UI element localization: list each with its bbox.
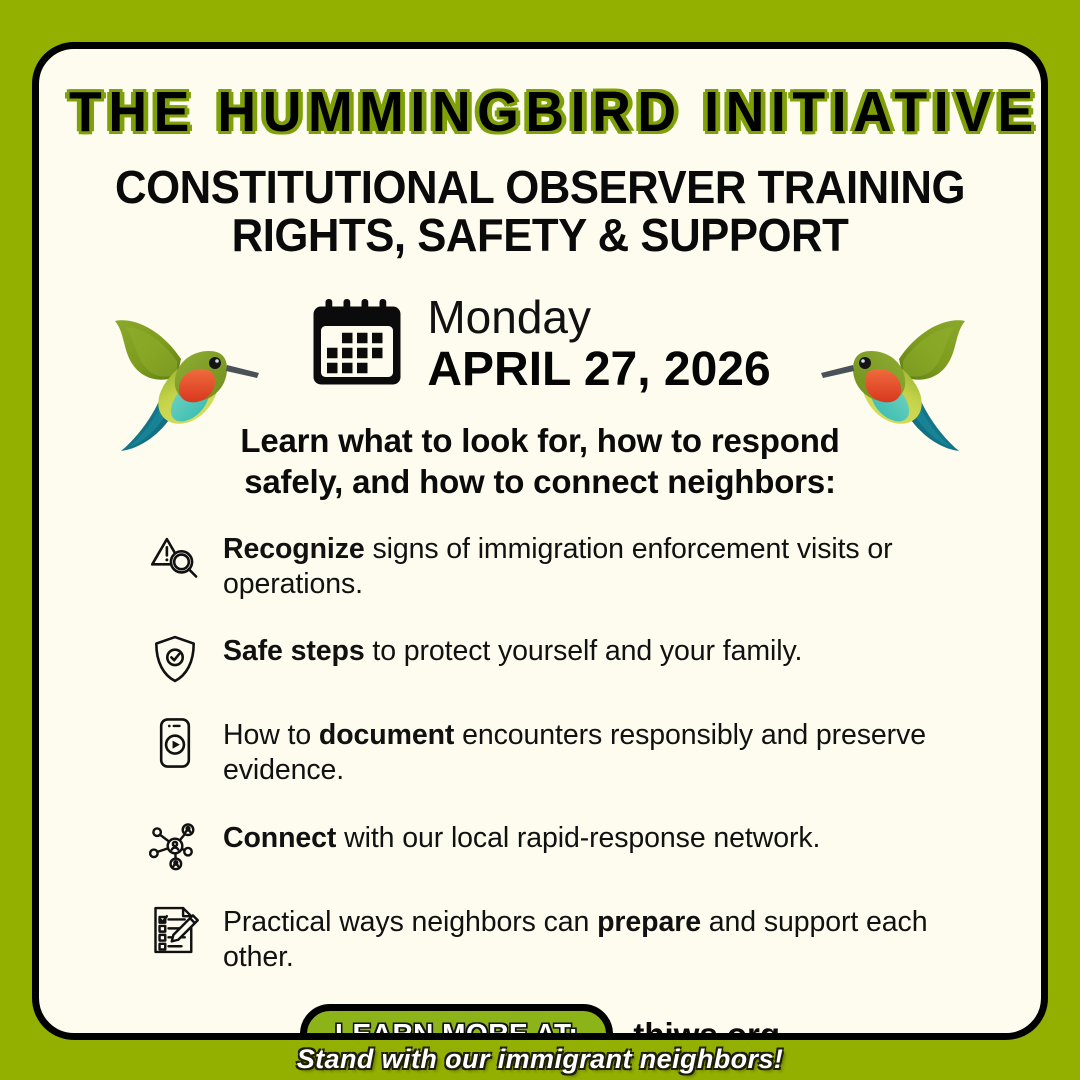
list-item-text: Practical ways neighbors can prepare and… <box>223 902 981 975</box>
bullet-lead-0: Recognize <box>223 533 365 565</box>
list-item: Recognize signs of immigration enforceme… <box>149 529 981 602</box>
feature-list: Recognize signs of immigration enforceme… <box>39 529 1041 975</box>
shield-check-icon <box>149 633 201 685</box>
calendar-icon <box>309 296 405 392</box>
list-item-text: Recognize signs of immigration enforceme… <box>223 529 981 602</box>
bullet-lead-1: Safe steps <box>223 635 365 667</box>
bullet-prefix-2: How to <box>223 719 319 751</box>
warning-magnifier-icon <box>149 531 201 583</box>
network-nodes-icon <box>149 820 201 872</box>
hummingbird-illustration-right <box>819 299 999 474</box>
poster-card: THE HUMMINGBIRD INITIATIVE CONSTITUTIONA… <box>32 42 1048 1040</box>
brand-title: THE HUMMINGBIRD INITIATIVE <box>69 79 1011 145</box>
event-date: APRIL 27, 2026 <box>427 346 770 394</box>
event-date-text: Monday APRIL 27, 2026 <box>427 294 770 394</box>
list-item: Practical ways neighbors can prepare and… <box>149 902 981 975</box>
footer-banner: Stand with our immigrant neighbors! <box>0 1038 1080 1080</box>
bullet-rest-3: with our local rapid-response network. <box>336 822 820 854</box>
bullet-lead-3: Connect <box>223 822 336 854</box>
bullet-lead-2: document <box>319 719 454 751</box>
list-item-text: Safe steps to protect yourself and your … <box>223 631 802 669</box>
list-item: How to document encounters responsibly a… <box>149 715 981 788</box>
event-weekday: Monday <box>427 294 770 340</box>
list-item-text: How to document encounters responsibly a… <box>223 715 981 788</box>
headline-line-1: CONSTITUTIONAL OBSERVER TRAINING <box>64 163 1016 211</box>
website-url[interactable]: thiws.org <box>633 1016 780 1040</box>
bullet-prefix-4: Practical ways neighbors can <box>223 906 597 938</box>
learn-more-button[interactable]: LEARN MORE AT: <box>300 1004 613 1040</box>
checklist-pencil-icon <box>149 904 201 956</box>
footer-tagline: Stand with our immigrant neighbors! <box>297 1044 784 1075</box>
page-title: CONSTITUTIONAL OBSERVER TRAINING RIGHTS,… <box>64 163 1016 260</box>
hummingbird-illustration-left <box>81 299 261 474</box>
list-item: Safe steps to protect yourself and your … <box>149 631 981 685</box>
phone-play-icon <box>149 717 201 769</box>
list-item-text: Connect with our local rapid-response ne… <box>223 818 820 856</box>
bullet-lead-4: prepare <box>597 906 701 938</box>
cta-row: LEARN MORE AT: thiws.org <box>39 1004 1041 1040</box>
headline-line-2: RIGHTS, SAFETY & SUPPORT <box>64 211 1016 259</box>
bullet-rest-1: to protect yourself and your family. <box>365 635 803 667</box>
list-item: Connect with our local rapid-response ne… <box>149 818 981 872</box>
